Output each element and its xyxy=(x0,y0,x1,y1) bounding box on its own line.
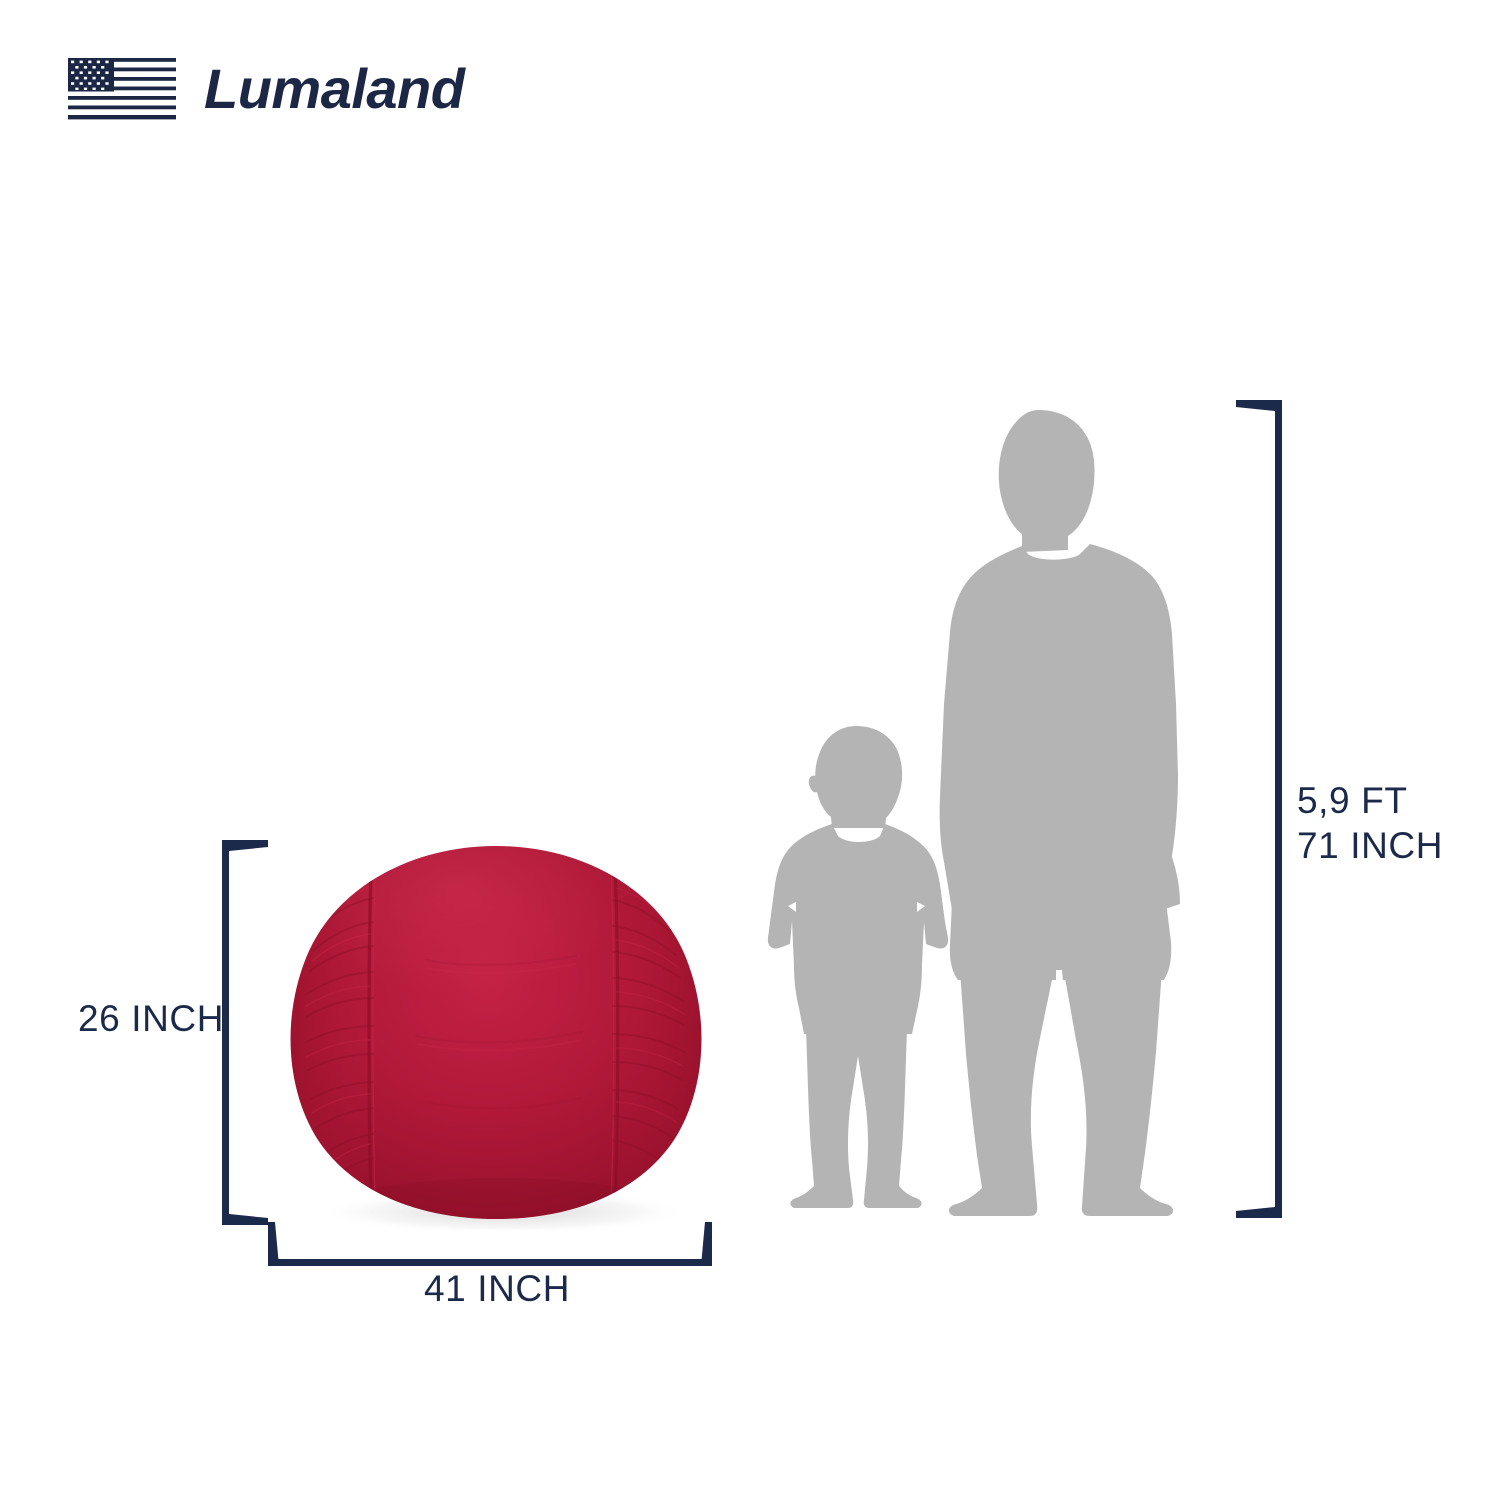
person-height-inch-value: 71 INCH xyxy=(1297,823,1443,868)
adult-silhouette-graphic xyxy=(930,404,1215,1222)
product-dimension-infographic: Lumaland xyxy=(0,0,1500,1500)
bag-height-label: 26 INCH xyxy=(78,996,224,1041)
brand-header: Lumaland xyxy=(68,58,464,120)
adult-silhouette xyxy=(930,404,1215,1222)
brand-name: Lumaland xyxy=(204,61,464,117)
us-flag-icon xyxy=(68,58,176,120)
bag-height-dimension-bracket xyxy=(222,840,272,1225)
person-height-feet-value: 5,9 FT xyxy=(1297,778,1443,823)
person-height-dimension-bracket xyxy=(1232,400,1282,1218)
bean-bag-chair-image xyxy=(276,840,716,1230)
bag-width-dimension-bracket xyxy=(268,1222,712,1266)
bag-width-label: 41 INCH xyxy=(424,1266,570,1311)
person-height-label: 5,9 FT 71 INCH xyxy=(1297,778,1443,868)
bean-bag-graphic xyxy=(276,840,716,1230)
